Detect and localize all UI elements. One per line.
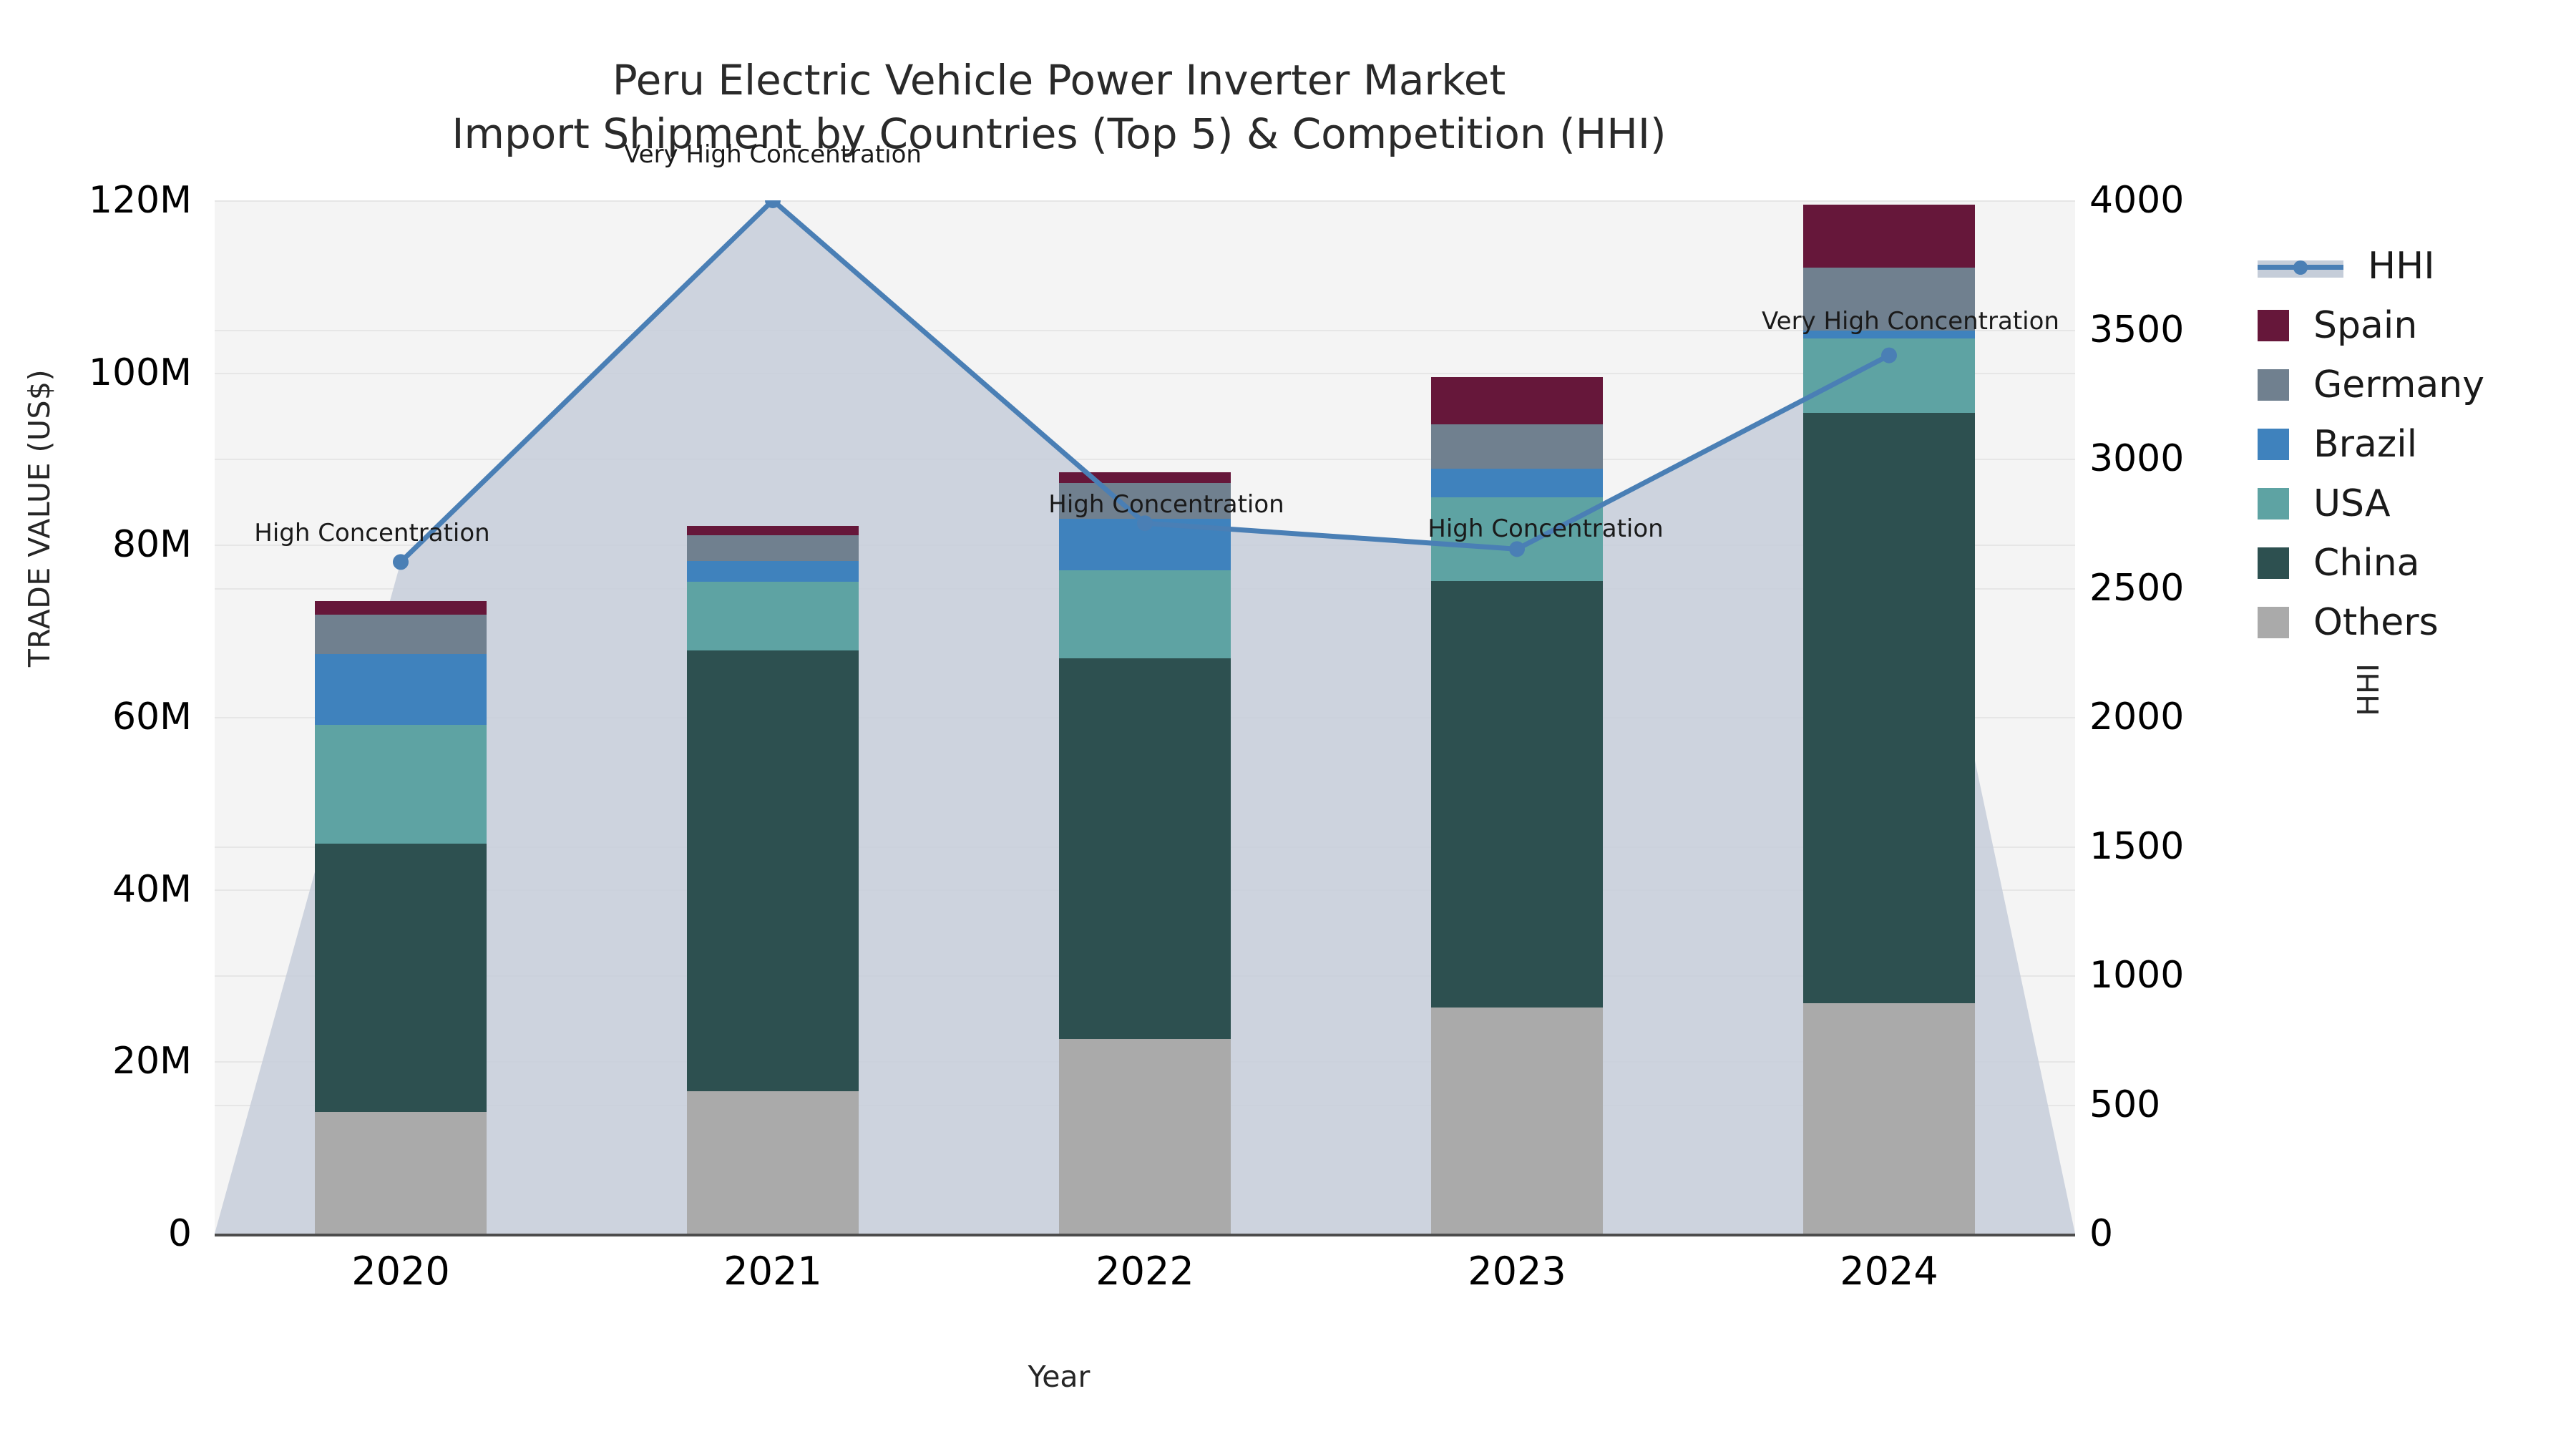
legend-swatch-icon — [2258, 369, 2289, 401]
bar-segment-china-2021[interactable] — [687, 650, 859, 1091]
bar-group-2020[interactable] — [315, 200, 487, 1234]
bar-segment-others-2020[interactable] — [315, 1112, 487, 1234]
bar-segment-usa-2024[interactable] — [1803, 338, 1975, 414]
bar-segment-germany-2023[interactable] — [1431, 424, 1603, 469]
legend-label: Brazil — [2313, 423, 2417, 466]
bar-segment-spain-2024[interactable] — [1803, 205, 1975, 268]
legend-label: Germany — [2313, 364, 2484, 406]
bar-segment-others-2021[interactable] — [687, 1091, 859, 1234]
chart-title: Peru Electric Vehicle Power Inverter Mar… — [0, 54, 2118, 162]
bar-segment-brazil-2020[interactable] — [315, 654, 487, 725]
legend-swatch-icon — [2258, 310, 2289, 341]
bar-segment-china-2023[interactable] — [1431, 581, 1603, 1008]
bar-group-2021[interactable] — [687, 200, 859, 1234]
bar-segment-usa-2020[interactable] — [315, 725, 487, 844]
bar-segment-others-2024[interactable] — [1803, 1003, 1975, 1234]
bar-segment-others-2023[interactable] — [1431, 1008, 1603, 1234]
chart-legend: HHISpainGermanyBrazilUSAChinaOthers — [2258, 236, 2484, 652]
x-axis-line — [215, 1234, 2075, 1236]
legend-swatch-icon — [2258, 547, 2289, 579]
y-tick-left-120M: 120M — [0, 179, 192, 222]
legend-item-hhi[interactable]: HHI — [2258, 236, 2484, 296]
hhi-annotation-2024: Very High Concentration — [1762, 307, 2059, 336]
x-tick-2020: 2020 — [293, 1249, 508, 1294]
y-tick-right-3000: 3000 — [2089, 437, 2275, 480]
x-tick-2021: 2021 — [665, 1249, 880, 1294]
bar-segment-china-2024[interactable] — [1803, 413, 1975, 1002]
y-tick-left-20M: 20M — [0, 1040, 192, 1083]
bar-segment-china-2022[interactable] — [1059, 658, 1231, 1039]
bar-group-2023[interactable] — [1431, 200, 1603, 1234]
y-tick-right-2500: 2500 — [2089, 567, 2275, 610]
bar-segment-spain-2021[interactable] — [687, 526, 859, 535]
bar-segment-spain-2023[interactable] — [1431, 377, 1603, 424]
hhi-annotation-2021: Very High Concentration — [624, 140, 922, 169]
bar-segment-usa-2022[interactable] — [1059, 570, 1231, 658]
y-tick-left-40M: 40M — [0, 868, 192, 911]
bar-segment-spain-2022[interactable] — [1059, 472, 1231, 482]
legend-item-others[interactable]: Others — [2258, 592, 2484, 652]
x-axis-label: Year — [0, 1360, 2118, 1394]
bar-segment-germany-2021[interactable] — [687, 535, 859, 561]
legend-label: Others — [2313, 601, 2439, 644]
legend-swatch-icon — [2258, 429, 2289, 460]
hhi-annotation-2023: High Concentration — [1428, 514, 1663, 543]
bar-segment-brazil-2021[interactable] — [687, 561, 859, 582]
y-tick-right-500: 500 — [2089, 1083, 2275, 1126]
legend-item-china[interactable]: China — [2258, 533, 2484, 592]
bar-group-2024[interactable] — [1803, 200, 1975, 1234]
y-tick-right-1000: 1000 — [2089, 954, 2275, 997]
y-tick-right-1500: 1500 — [2089, 825, 2275, 868]
legend-item-spain[interactable]: Spain — [2258, 296, 2484, 355]
bar-segment-china-2020[interactable] — [315, 844, 487, 1112]
y-tick-right-3500: 3500 — [2089, 308, 2275, 351]
x-tick-2022: 2022 — [1038, 1249, 1252, 1294]
y-axis-left-label: TRADE VALUE (US$) — [22, 268, 57, 769]
hhi-line-icon — [2258, 250, 2343, 282]
legend-label: Spain — [2313, 304, 2417, 347]
legend-swatch-icon — [2258, 607, 2289, 638]
hhi-annotation-2022: High Concentration — [1048, 490, 1284, 519]
chart-title-line-2: Import Shipment by Countries (Top 5) & C… — [0, 107, 2118, 161]
bar-segment-usa-2021[interactable] — [687, 582, 859, 650]
legend-item-germany[interactable]: Germany — [2258, 355, 2484, 414]
y-tick-right-0: 0 — [2089, 1212, 2275, 1255]
hhi-annotation-2020: High Concentration — [254, 519, 489, 547]
legend-label: HHI — [2368, 245, 2435, 288]
legend-item-brazil[interactable]: Brazil — [2258, 414, 2484, 474]
chart-canvas: Peru Electric Vehicle Power Inverter Mar… — [0, 0, 2576, 1449]
bar-segment-brazil-2023[interactable] — [1431, 469, 1603, 497]
bar-group-2022[interactable] — [1059, 200, 1231, 1234]
bar-segment-germany-2020[interactable] — [315, 615, 487, 654]
x-tick-2023: 2023 — [1410, 1249, 1624, 1294]
y-tick-right-4000: 4000 — [2089, 179, 2275, 222]
legend-label: USA — [2313, 482, 2391, 525]
bar-segment-brazil-2022[interactable] — [1059, 519, 1231, 570]
legend-swatch-icon — [2258, 488, 2289, 519]
plot-area: High ConcentrationVery High Concentratio… — [215, 200, 2075, 1234]
legend-item-usa[interactable]: USA — [2258, 474, 2484, 533]
y-tick-left-0: 0 — [0, 1212, 192, 1255]
bar-segment-others-2022[interactable] — [1059, 1039, 1231, 1234]
legend-label: China — [2313, 542, 2420, 585]
y-tick-right-2000: 2000 — [2089, 696, 2275, 738]
chart-title-line-1: Peru Electric Vehicle Power Inverter Mar… — [0, 54, 2118, 107]
x-tick-2024: 2024 — [1782, 1249, 1996, 1294]
bar-segment-spain-2020[interactable] — [315, 601, 487, 615]
